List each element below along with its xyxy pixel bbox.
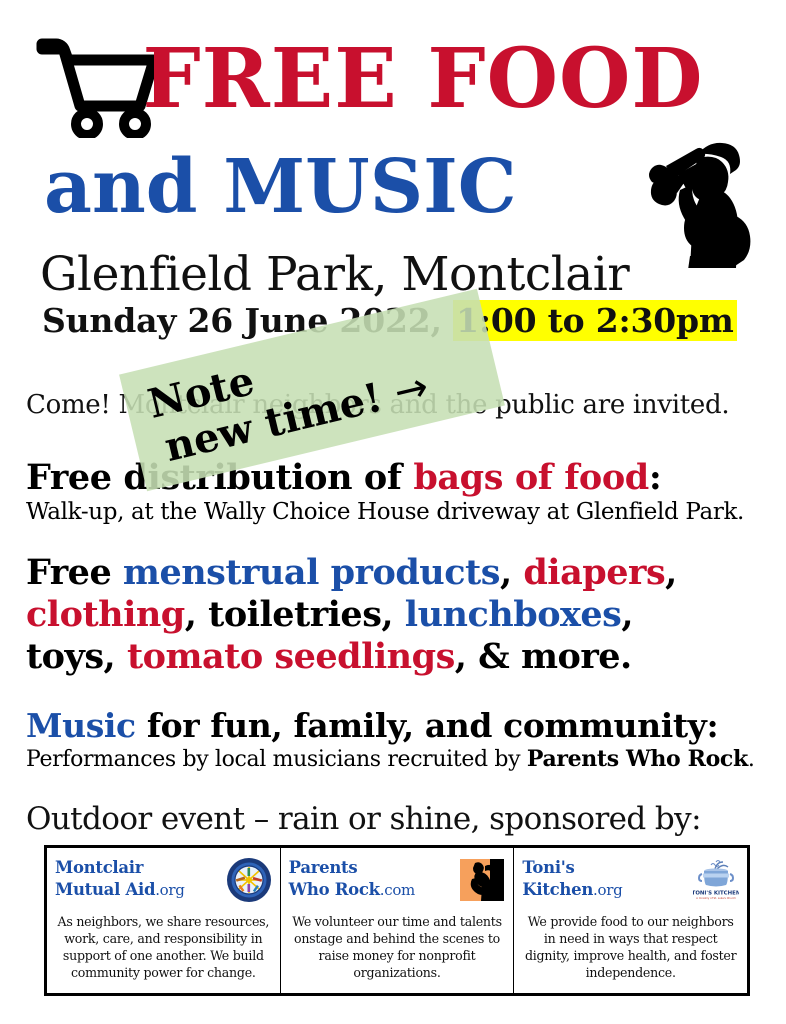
music-heading-emphasis: Music [26, 706, 136, 745]
sponsor-name-line-2: Mutual Aid [55, 880, 155, 899]
items-line-1: Free menstrual products, diapers, [26, 552, 772, 594]
title-and-word: and [44, 144, 223, 230]
sponsor-name[interactable]: Montclair Mutual Aid.org [55, 857, 185, 901]
items-list: Free menstrual products, diapers, clothi… [26, 552, 772, 679]
music-heading: Music for fun, family, and community: [26, 709, 772, 744]
music-heading-rest: for fun, family, and community: [136, 706, 719, 745]
item-segment: diapers [523, 552, 665, 593]
venue-location: Glenfield Park, Montclair [40, 250, 768, 301]
item-segment: , [621, 594, 633, 635]
sponsor-tld: .org [155, 881, 184, 899]
outdoor-sponsored-line: Outdoor event – rain or shine, sponsored… [26, 803, 786, 836]
food-subtext: Walk-up, at the Wally Choice House drive… [26, 500, 772, 525]
music-section: Music for fun, family, and community: Pe… [26, 709, 772, 773]
event-time-highlight: 1:00 to 2:30pm [453, 300, 737, 341]
music-subtext: Performances by local musicians recruite… [26, 747, 772, 772]
sponsor-header: Toni's Kitchen.org [522, 857, 739, 905]
sponsor-description: We provide food to our neighbors in need… [522, 913, 739, 982]
montclair-mutual-aid-seal-logo [226, 857, 272, 903]
food-heading: Free distribution of bags of food: [26, 460, 772, 497]
food-heading-colon: : [649, 457, 662, 498]
sponsor-cell-parents-who-rock[interactable]: Parents Who Rock.com [280, 848, 514, 993]
tonis-kitchen-pot-logo: TONI'S KITCHEN A ministry of St. Luke's … [693, 857, 739, 903]
item-segment: , toiletries, [185, 594, 405, 635]
title-and-music: and MUSIC [44, 150, 517, 224]
sponsor-name-line-2: Who Rock [289, 880, 380, 899]
sponsor-table: Montclair Mutual Aid.org [44, 845, 750, 996]
sponsor-name-line-1: Montclair [55, 858, 143, 877]
sponsor-cell-montclair-mutual-aid[interactable]: Montclair Mutual Aid.org [47, 848, 280, 993]
item-segment: Free [26, 552, 123, 593]
item-segment: , [665, 552, 677, 593]
sponsor-name[interactable]: Parents Who Rock.com [289, 857, 415, 901]
sponsor-description: We volunteer our time and talents onstag… [289, 913, 506, 982]
items-line-2: clothing, toiletries, lunchboxes, [26, 594, 772, 636]
item-segment: lunchboxes [405, 594, 622, 635]
sponsor-cell-tonis-kitchen[interactable]: Toni's Kitchen.org [513, 848, 747, 993]
title-free-food: FREE FOOD [0, 38, 786, 120]
sponsor-header: Montclair Mutual Aid.org [55, 857, 272, 905]
sponsor-tld: .com [380, 881, 415, 899]
item-segment: tomato seedlings [127, 636, 455, 677]
sponsor-name-line-1: Toni's [522, 858, 574, 877]
sponsor-name-line-2: Kitchen [522, 880, 593, 899]
item-segment: menstrual products [123, 552, 500, 593]
saxophone-player-icon [632, 138, 768, 268]
title-music-word: MUSIC [223, 144, 516, 230]
sponsor-name[interactable]: Toni's Kitchen.org [522, 857, 622, 901]
food-section: Free distribution of bags of food: Walk-… [26, 460, 772, 526]
sponsor-description: As neighbors, we share resources, work, … [55, 913, 272, 982]
flyer-page: FREE FOOD and MUSIC [0, 0, 786, 1024]
music-subtext-prefix: Performances by local musicians recruite… [26, 747, 527, 772]
item-segment: clothing [26, 594, 185, 635]
right-arrow-icon: → [390, 363, 433, 416]
flyer-header: FREE FOOD and MUSIC [0, 0, 786, 250]
music-subtext-suffix: . [748, 747, 755, 772]
parents-who-rock-guitarist-logo [459, 857, 505, 903]
items-line-3: toys, tomato seedlings, & more. [26, 636, 772, 678]
tonis-kitchen-logo-subcaption: A ministry of St. Luke's Church [696, 896, 736, 900]
sponsor-tld: .org [593, 881, 622, 899]
sponsor-header: Parents Who Rock.com [289, 857, 506, 905]
item-segment: , & more. [455, 636, 632, 677]
music-subtext-org: Parents Who Rock [527, 746, 748, 772]
sponsor-name-line-1: Parents [289, 858, 358, 877]
item-segment: , [500, 552, 523, 593]
food-heading-emphasis: bags of food [413, 457, 649, 498]
tonis-kitchen-logo-caption: TONI'S KITCHEN [693, 891, 739, 897]
item-segment: toys, [26, 636, 127, 677]
